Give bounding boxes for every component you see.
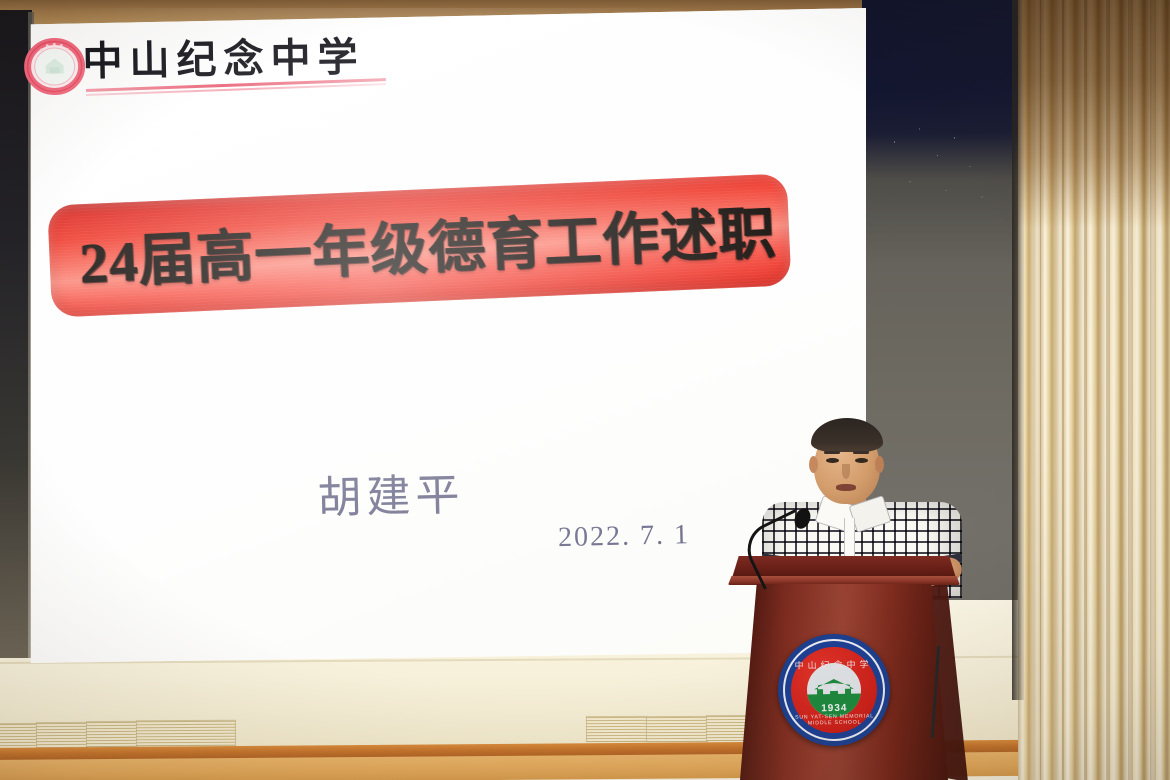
speaker-eye-right — [855, 458, 868, 463]
speaker-mouth — [836, 484, 856, 491]
air-vent-panel — [86, 721, 138, 747]
auditorium-presentation-photo: 中山纪念中学 24届高一年级德育工作述职 胡建平 2022. 7. 1 — [0, 0, 1170, 780]
school-seal-icon — [23, 37, 86, 96]
speaker-hair — [811, 418, 883, 452]
curtain-edge-shadow — [1012, 0, 1024, 700]
emblem-english-name: SUN YAT-SEN MEMORIAL MIDDLE SCHOOL — [791, 713, 877, 726]
speaker-nose — [842, 464, 850, 479]
air-vent-panel — [586, 716, 648, 742]
slide-presenter-name: 胡建平 — [317, 459, 465, 526]
speaker-eyebrow-left — [824, 451, 840, 454]
air-vent-panel — [36, 722, 88, 748]
shirt-placket — [844, 518, 855, 560]
speaker-eye-left — [826, 458, 839, 463]
wall-texture-speckle — [880, 118, 1000, 228]
slide-presentation-date: 2022. 7. 1 — [558, 519, 691, 554]
air-vent-panel — [136, 720, 236, 747]
curtain-top-shadow — [1018, 0, 1170, 228]
slide-title-text: 24届高一年级德育工作述职 — [78, 187, 778, 299]
slide-title-banner: 24届高一年级德育工作述职 — [47, 173, 791, 317]
air-vent-panel — [646, 716, 708, 742]
speaker-ear-left — [809, 456, 818, 473]
slide-school-name: 中山纪念中学 — [82, 25, 365, 87]
speaking-podium: 中山纪念中学 SUN YAT-SEN MEMORIAL MIDDLE SCHOO… — [718, 556, 970, 780]
air-vent-panel — [0, 723, 38, 749]
emblem-chinese-name: 中山纪念中学 — [790, 657, 876, 671]
speaker-eyebrow-right — [853, 451, 869, 454]
speaker-ear-right — [875, 456, 884, 473]
